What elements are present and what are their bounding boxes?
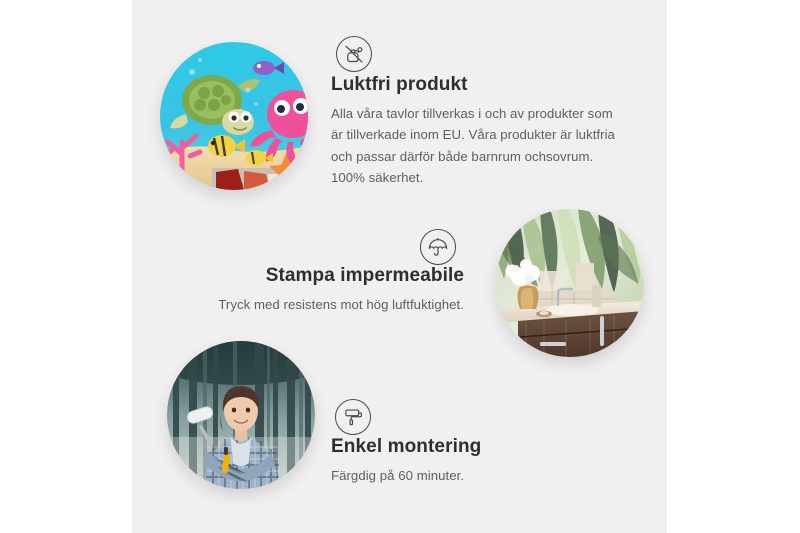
feature-block-waterproof-print: Stampa impermeabile Tryck med resistens …: [196, 265, 464, 315]
feature-heading: Stampa impermeabile: [196, 265, 464, 288]
no-perfume-spray-icon: [336, 36, 372, 72]
feature-body: Tryck med resistens mot hög luftfuktighe…: [196, 294, 464, 315]
feature-heading: Luktfri produkt: [331, 74, 619, 97]
feature-block-easy-mounting: Enkel montering Färgdig på 60 minuter.: [331, 436, 611, 486]
underwater-cartoon-scene-photo: [160, 42, 308, 190]
bathroom-tropical-wallpaper-photo: [496, 209, 644, 357]
product-feature-infographic: Luktfri produkt Alla våra tavlor tillver…: [0, 0, 800, 533]
umbrella-icon: [420, 229, 456, 265]
woman-with-paint-roller-forest-photo: [167, 341, 315, 489]
feature-body: Alla våra tavlor tillverkas i och av pro…: [331, 103, 619, 189]
paint-roller-icon: [335, 399, 371, 435]
feature-heading: Enkel montering: [331, 436, 611, 459]
feature-body: Färgdig på 60 minuter.: [331, 465, 611, 486]
feature-block-odour-free: Luktfri produkt Alla våra tavlor tillver…: [331, 74, 619, 188]
